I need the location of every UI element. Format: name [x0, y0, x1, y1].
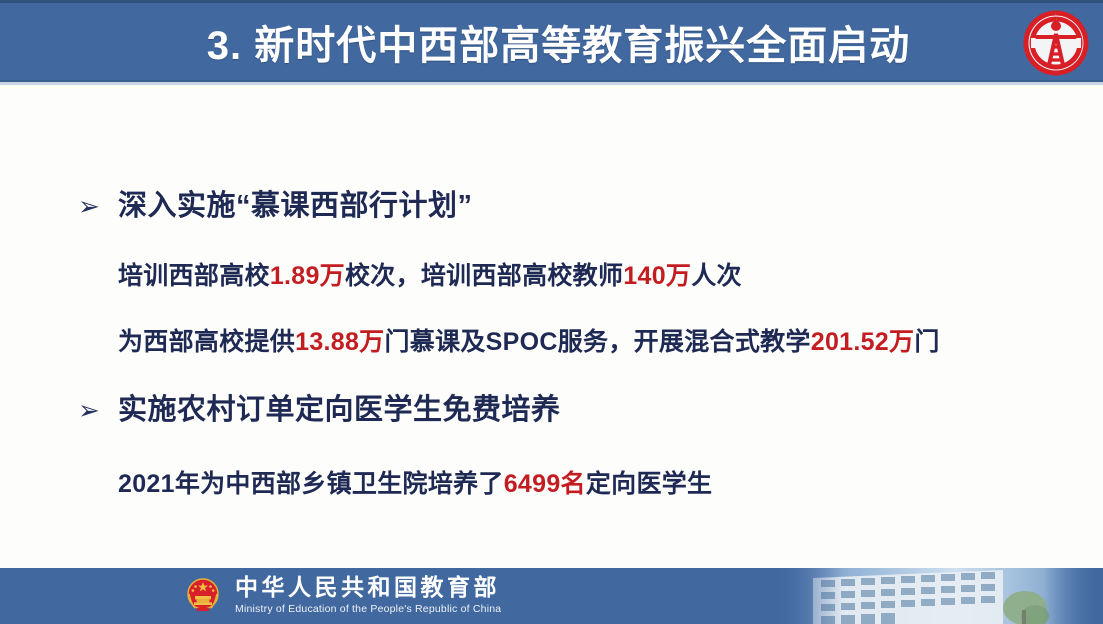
content-block: ➢ 实施农村订单定向医学生免费培养 2021年为中西部乡镇卫生院培养了6499名… — [0, 386, 1103, 502]
national-emblem-icon — [183, 574, 223, 618]
detail-text-run: 门慕课及SPOC服务，开展混合式教学 — [384, 328, 810, 356]
footer-brand: 中华人民共和国教育部 Ministry of Education of the … — [183, 571, 501, 621]
detail-text-run: 人次 — [691, 262, 742, 290]
header-band: 3. 新时代中西部高等教育振兴全面启动 — [0, 0, 1103, 82]
detail-text-run: 定向医学生 — [586, 470, 713, 498]
detail-line: 为西部高校提供13.88万门慕课及SPOC服务，开展混合式教学201.52万门 — [0, 320, 1103, 360]
footer-band: 中华人民共和国教育部 Ministry of Education of the … — [0, 568, 1103, 624]
header-divider — [0, 82, 1103, 85]
detail-line: 2021年为中西部乡镇卫生院培养了6499名定向医学生 — [0, 462, 1103, 502]
detail-line-text: 培训西部高校1.89万校次，培训西部高校教师140万人次 — [118, 256, 742, 292]
content-block: ➢ 深入实施“慕课西部行计划” 培训西部高校1.89万校次，培训西部高校教师14… — [0, 182, 1103, 360]
bullet-heading: ➢ 实施农村订单定向医学生免费培养 — [0, 386, 1103, 430]
page-title: 3. 新时代中西部高等教育振兴全面启动 — [207, 13, 910, 71]
bullet-arrow-icon: ➢ — [78, 194, 118, 220]
highlight-figure: 201.52万 — [811, 328, 915, 356]
highlight-figure: 1.89万 — [270, 262, 345, 290]
detail-text-run: 门 — [914, 328, 939, 356]
red-circle-tower-emblem-icon — [1023, 10, 1089, 76]
highlight-figure: 13.88万 — [295, 328, 384, 356]
detail-line-text: 为西部高校提供13.88万门慕课及SPOC服务，开展混合式教学201.52万门 — [118, 322, 940, 358]
detail-line-text: 2021年为中西部乡镇卫生院培养了6499名定向医学生 — [118, 464, 712, 500]
ministry-building-photo — [773, 568, 1103, 624]
slide-content: ➢ 深入实施“慕课西部行计划” 培训西部高校1.89万校次，培训西部高校教师14… — [0, 86, 1103, 556]
bullet-heading-text: 实施农村订单定向医学生免费培养 — [118, 386, 561, 428]
bullet-heading-text: 深入实施“慕课西部行计划” — [118, 182, 473, 224]
bullet-heading: ➢ 深入实施“慕课西部行计划” — [0, 182, 1103, 226]
highlight-figure: 6499名 — [504, 470, 586, 498]
detail-text-run: 2021年为中西部乡镇卫生院培养了 — [118, 470, 504, 498]
bullet-arrow-icon: ➢ — [78, 398, 118, 424]
footer-org-en: Ministry of Education of the People's Re… — [235, 603, 501, 616]
highlight-figure: 140万 — [623, 262, 691, 290]
detail-text-run: 校次，培训西部高校教师 — [345, 262, 623, 290]
footer-org-cn: 中华人民共和国教育部 — [235, 576, 501, 601]
detail-text-run: 为西部高校提供 — [118, 328, 295, 356]
slide: 3. 新时代中西部高等教育振兴全面启动 ➢ 深入实施“慕课西部行计划” 培训西部… — [0, 0, 1103, 624]
detail-text-run: 培训西部高校 — [118, 262, 270, 290]
detail-line: 培训西部高校1.89万校次，培训西部高校教师140万人次 — [0, 254, 1103, 294]
